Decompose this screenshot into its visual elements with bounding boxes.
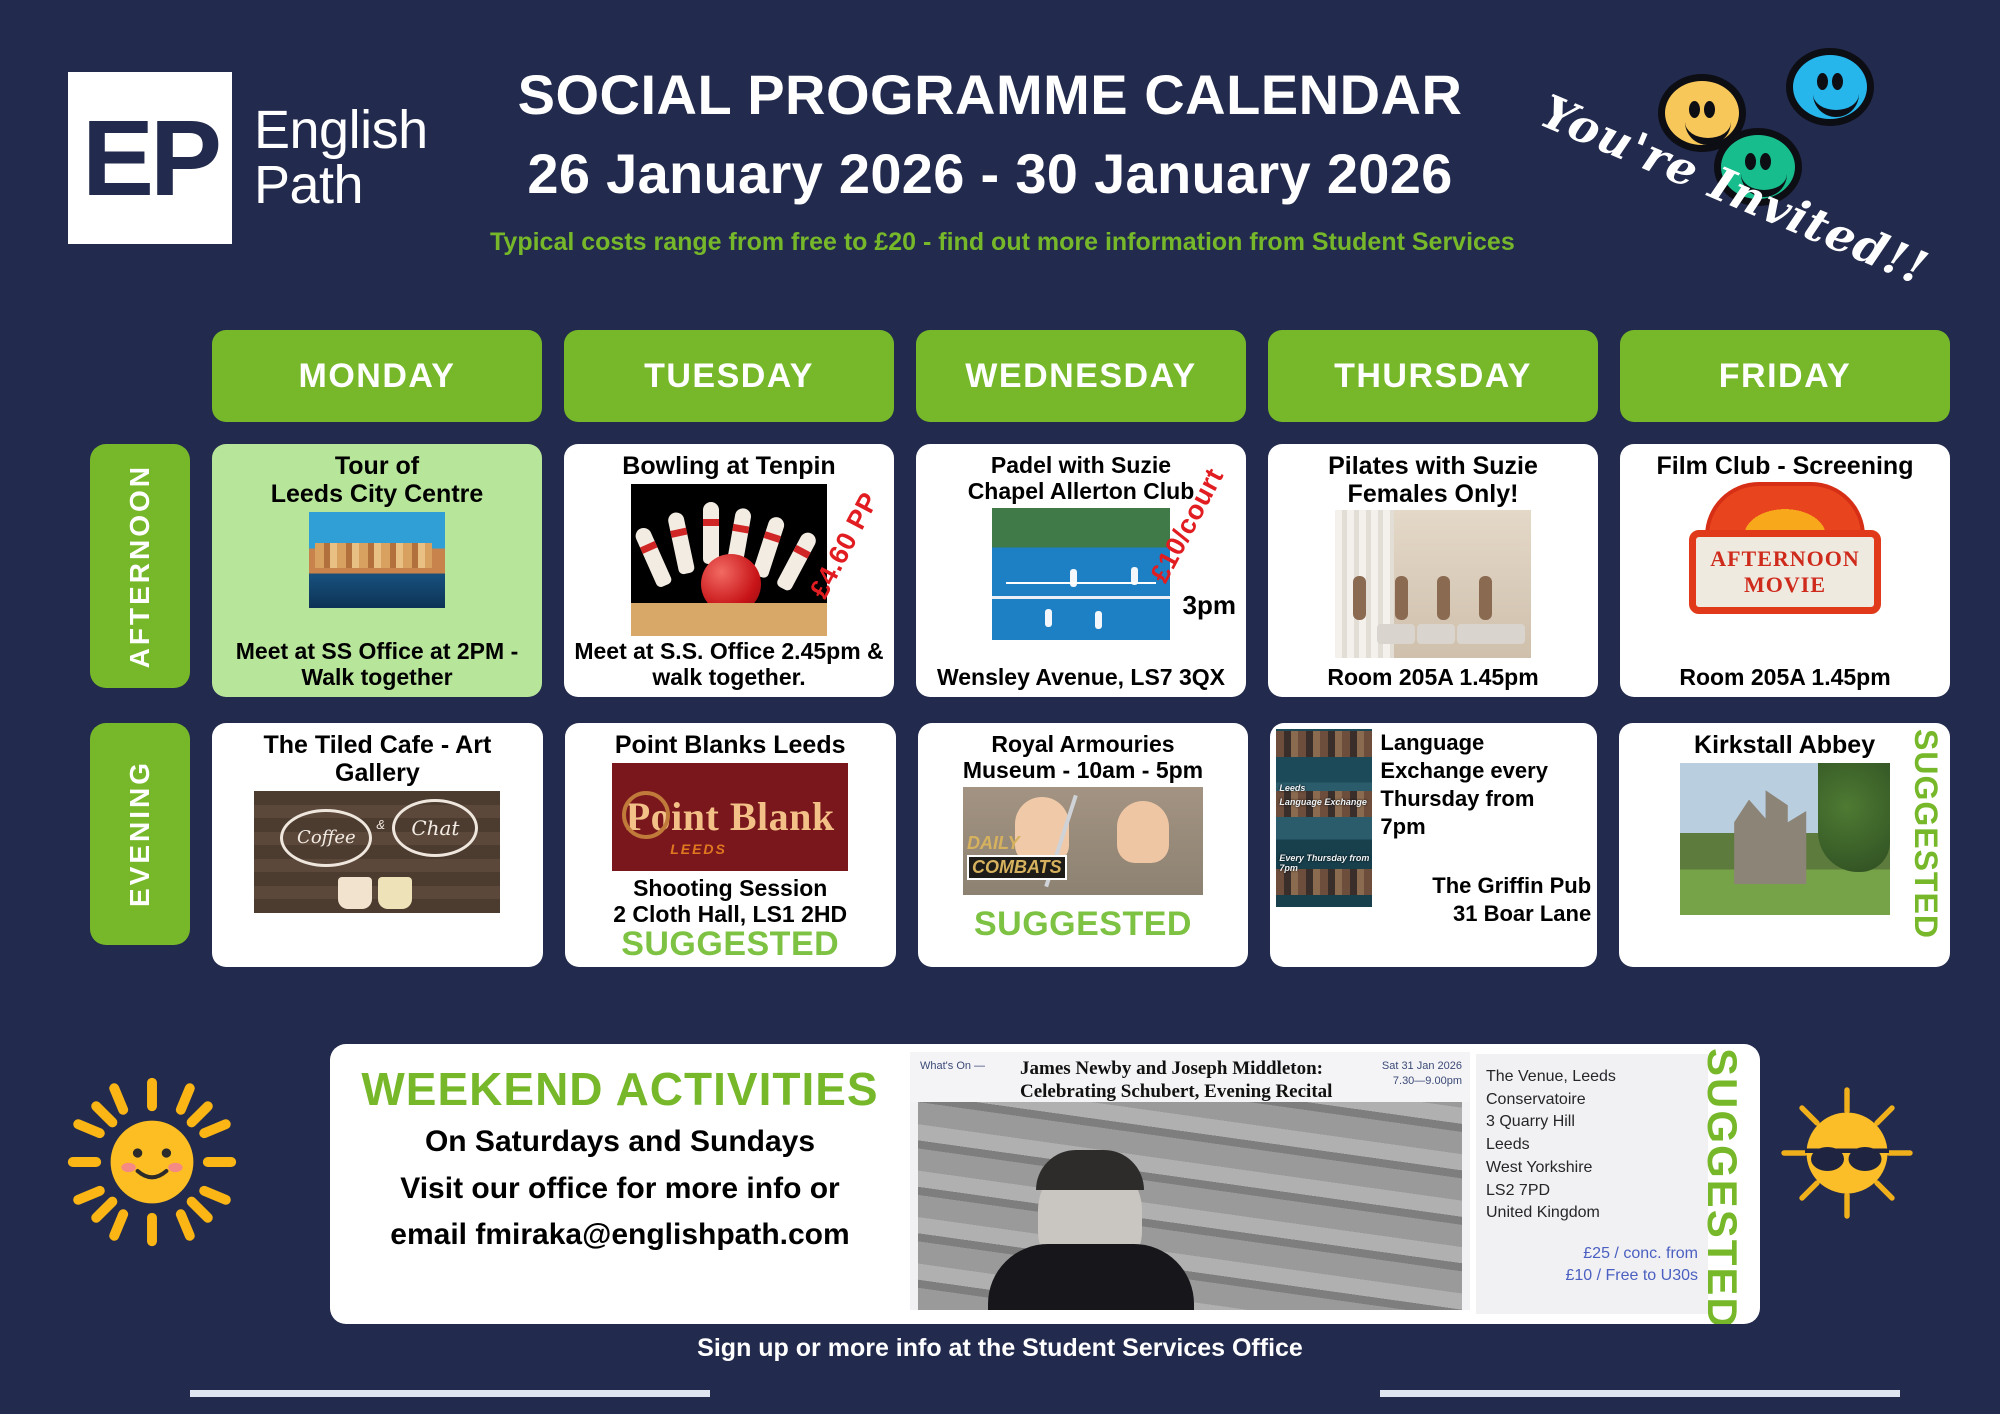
- suggested-badge: SUGGESTED: [974, 907, 1192, 941]
- afternoon-movie-sign: AFTERNOON MOVIE: [1683, 482, 1887, 618]
- ep-logo-mark: EP: [68, 72, 232, 244]
- venue-price-line-2: £10 / Free to U30s: [1486, 1265, 1698, 1287]
- bubble-coffee-text: Coffee: [280, 809, 372, 867]
- venue-line-3: 3 Quarry Hill: [1486, 1111, 1698, 1134]
- event-title: Kirkstall Abbey: [1627, 731, 1942, 759]
- performer-photo: [918, 1102, 1462, 1310]
- event-title: Padel with Suzie: [924, 452, 1238, 478]
- event-card-monday-afternoon[interactable]: Tour of Leeds City Centre Meet at SS Off…: [212, 444, 542, 697]
- afternoon-row: AFTERNOON Tour of Leeds City Centre Meet…: [90, 444, 1950, 697]
- day-header-tuesday: TUESDAY: [564, 330, 894, 422]
- weekend-suggested-text: SUGGESTED: [1698, 1048, 1746, 1324]
- event-footer: Room 205A 1.45pm: [1276, 664, 1590, 690]
- sun-sunglasses-icon: [1772, 1078, 1922, 1228]
- combats-text: COMBATS: [967, 855, 1067, 880]
- brand-name-line2: Path: [254, 158, 428, 213]
- event-card-thursday-evening[interactable]: Leeds Language Exchange Every Thursday f…: [1270, 723, 1597, 967]
- event-card-thursday-afternoon[interactable]: Pilates with Suzie Females Only! Room 20…: [1268, 444, 1598, 697]
- rail-afternoon-text: AFTERNOON: [124, 464, 156, 668]
- lang-line-1: Language: [1380, 729, 1591, 757]
- venue-line-7: United Kingdom: [1486, 1202, 1698, 1225]
- cost-note: Typical costs range from free to £20 - f…: [490, 228, 1490, 257]
- event-title: The Tiled Cafe - Art Gallery: [220, 731, 535, 787]
- flyer-headline: James Newby and Joseph Middleton: Celebr…: [1020, 1058, 1332, 1104]
- language-exchange-details: Language Exchange every Thursday from 7p…: [1372, 729, 1591, 929]
- event-title: Point Blanks Leeds: [573, 731, 888, 759]
- daily-text: DAILY: [967, 833, 1020, 854]
- event-card-wednesday-evening[interactable]: Royal Armouries Museum - 10am - 5pm DAIL…: [918, 723, 1249, 967]
- bubble-chat-text: Chat: [392, 799, 478, 857]
- bowling-pins-photo: [631, 484, 827, 636]
- title-block: SOCIAL PROGRAMME CALENDAR 26 January 202…: [490, 62, 1490, 257]
- event-title: Bowling at Tenpin: [572, 452, 886, 480]
- event-card-wednesday-afternoon[interactable]: Padel with Suzie Chapel Allerton Club £1…: [916, 444, 1246, 697]
- event-footer: Room 205A 1.45pm: [1628, 664, 1942, 690]
- footer-rule-right: [1380, 1390, 1900, 1397]
- event-footer: Meet at SS Office at 2PM - Walk together: [220, 638, 534, 691]
- brand-logo: EP English Path: [68, 72, 428, 244]
- event-title: Pilates with Suzie: [1276, 452, 1590, 480]
- venue-line-6: LS2 7PD: [1486, 1180, 1698, 1203]
- event-subtitle: Leeds City Centre: [220, 480, 534, 508]
- venue-line-1: The Venue, Leeds: [1486, 1066, 1698, 1089]
- brand-name: English Path: [254, 103, 428, 213]
- weekend-email-line: email fmiraka@englishpath.com: [340, 1215, 900, 1256]
- flyer-header: What's On — James Newby and Joseph Middl…: [910, 1052, 1470, 1102]
- concert-flyer: What's On — James Newby and Joseph Middl…: [910, 1052, 1470, 1310]
- weekend-card[interactable]: WEEKEND ACTIVITIES On Saturdays and Sund…: [330, 1044, 1760, 1324]
- event-card-friday-evening[interactable]: Kirkstall Abbey SUGGESTED: [1619, 723, 1950, 967]
- event-title: Film Club - Screening: [1628, 452, 1942, 480]
- movie-sign-line1: AFTERNOON: [1710, 546, 1860, 572]
- venue-line-5: West Yorkshire: [1486, 1157, 1698, 1180]
- event-card-monday-evening[interactable]: The Tiled Cafe - Art Gallery Coffee Chat…: [212, 723, 543, 967]
- venue-line-2: Conservatoire: [1486, 1089, 1698, 1112]
- calendar-grid: MONDAY TUESDAY WEDNESDAY THURSDAY FRIDAY…: [90, 330, 1950, 967]
- weekend-suggested-badge: SUGGESTED: [1698, 1048, 1746, 1320]
- event-detail-1: Shooting Session: [573, 875, 888, 901]
- padel-court-photo: [992, 508, 1170, 640]
- rail-label-evening: EVENING: [90, 723, 190, 945]
- weekend-line-2: Visit our office for more info or: [340, 1169, 900, 1210]
- lang-venue-address: 31 Boar Lane: [1380, 900, 1591, 929]
- suggested-badge: SUGGESTED: [621, 927, 839, 961]
- lang-line-2: Exchange every: [1380, 757, 1591, 785]
- language-exchange-caption: Language Exchange: [1279, 797, 1367, 807]
- event-footer: Meet at S.S. Office 2.45pm & walk togeth…: [572, 638, 886, 691]
- weekend-line-1: On Saturdays and Sundays: [340, 1122, 900, 1163]
- point-blank-leeds-logo: Point Blank LEEDS: [612, 763, 848, 871]
- page-title: SOCIAL PROGRAMME CALENDAR: [490, 62, 1490, 127]
- flyer-whats-on-label: What's On —: [920, 1060, 985, 1072]
- flyer-datetime: Sat 31 Jan 2026 7.30—9.00pm: [1382, 1059, 1462, 1089]
- event-subtitle: Females Only!: [1276, 480, 1590, 508]
- daily-combats-photo: DAILY COMBATS: [963, 787, 1203, 895]
- date-range: 26 January 2026 - 30 January 2026: [490, 141, 1490, 206]
- event-card-friday-afternoon[interactable]: Film Club - Screening AFTERNOON MOVIE Ro…: [1620, 444, 1950, 697]
- day-header-row: MONDAY TUESDAY WEDNESDAY THURSDAY FRIDAY: [90, 330, 1950, 422]
- invite-decoration: You're Invited!!: [1554, 18, 1984, 258]
- rail-evening-text: EVENING: [124, 760, 156, 907]
- lang-line-4: 7pm: [1380, 813, 1591, 841]
- lang-venue-name: The Griffin Pub: [1380, 872, 1591, 901]
- weekend-title: WEEKEND ACTIVITIES: [340, 1062, 900, 1116]
- event-title: Tour of: [220, 452, 534, 480]
- event-footer: Wensley Avenue, LS7 3QX: [924, 664, 1238, 690]
- event-time: 3pm: [1183, 590, 1236, 621]
- event-detail-2: 2 Cloth Hall, LS1 2HD: [573, 901, 888, 927]
- lang-line-3: Thursday from: [1380, 785, 1591, 813]
- brand-name-line1: English: [254, 103, 428, 158]
- flyer-date: Sat 31 Jan 2026: [1382, 1059, 1462, 1074]
- weekend-info: WEEKEND ACTIVITIES On Saturdays and Sund…: [330, 1044, 910, 1324]
- leeds-city-centre-photo: [309, 512, 445, 608]
- flyer-headline-line2: Celebrating Schubert, Evening Recital: [1020, 1081, 1332, 1104]
- event-card-tuesday-afternoon[interactable]: Bowling at Tenpin £4.60 PP Meet at S.S. …: [564, 444, 894, 697]
- ep-logo-initials: EP: [82, 104, 218, 212]
- language-exchange-photo: Leeds Language Exchange Every Thursday f…: [1276, 729, 1372, 907]
- leeds-caption: Leeds: [1279, 783, 1305, 793]
- smiley-blue-icon: [1786, 48, 1874, 126]
- rail-spacer: [90, 330, 190, 422]
- day-header-thursday: THURSDAY: [1268, 330, 1598, 422]
- weekend-section: WEEKEND ACTIVITIES On Saturdays and Sund…: [330, 1044, 1760, 1324]
- footer-rule-left: [190, 1390, 710, 1397]
- evening-row: EVENING The Tiled Cafe - Art Gallery Cof…: [90, 723, 1950, 967]
- footer-note: Sign up or more info at the Student Serv…: [0, 1334, 2000, 1363]
- pilates-class-photo: [1335, 510, 1531, 658]
- flyer-headline-line1: James Newby and Joseph Middleton:: [1020, 1058, 1332, 1081]
- bubble-ampersand: &: [376, 817, 385, 832]
- movie-sign-line2: MOVIE: [1744, 572, 1826, 598]
- sun-icon: [62, 1072, 242, 1252]
- event-card-tuesday-evening[interactable]: Point Blanks Leeds Point Blank LEEDS Sho…: [565, 723, 896, 967]
- flyer-time: 7.30—9.00pm: [1382, 1074, 1462, 1089]
- day-header-monday: MONDAY: [212, 330, 542, 422]
- every-thursday-caption: Every Thursday from 7pm: [1279, 853, 1372, 873]
- coffee-and-chat-photo: Coffee Chat &: [254, 791, 500, 913]
- kirkstall-abbey-photo: [1680, 763, 1890, 915]
- suggested-badge-text: SUGGESTED: [1907, 729, 1944, 939]
- venue-details: The Venue, Leeds Conservatoire 3 Quarry …: [1476, 1054, 1708, 1314]
- rail-label-afternoon: AFTERNOON: [90, 444, 190, 688]
- venue-price-line-1: £25 / conc. from: [1486, 1243, 1698, 1265]
- event-subtitle: Museum - 10am - 5pm: [926, 757, 1241, 783]
- day-header-friday: FRIDAY: [1620, 330, 1950, 422]
- day-header-wednesday: WEDNESDAY: [916, 330, 1246, 422]
- point-blank-leeds-text: LEEDS: [670, 841, 727, 857]
- suggested-badge-vertical: SUGGESTED: [1907, 729, 1944, 915]
- page-header: EP English Path SOCIAL PROGRAMME CALENDA…: [0, 0, 2000, 300]
- venue-line-4: Leeds: [1486, 1134, 1698, 1157]
- event-title: Royal Armouries: [926, 731, 1241, 757]
